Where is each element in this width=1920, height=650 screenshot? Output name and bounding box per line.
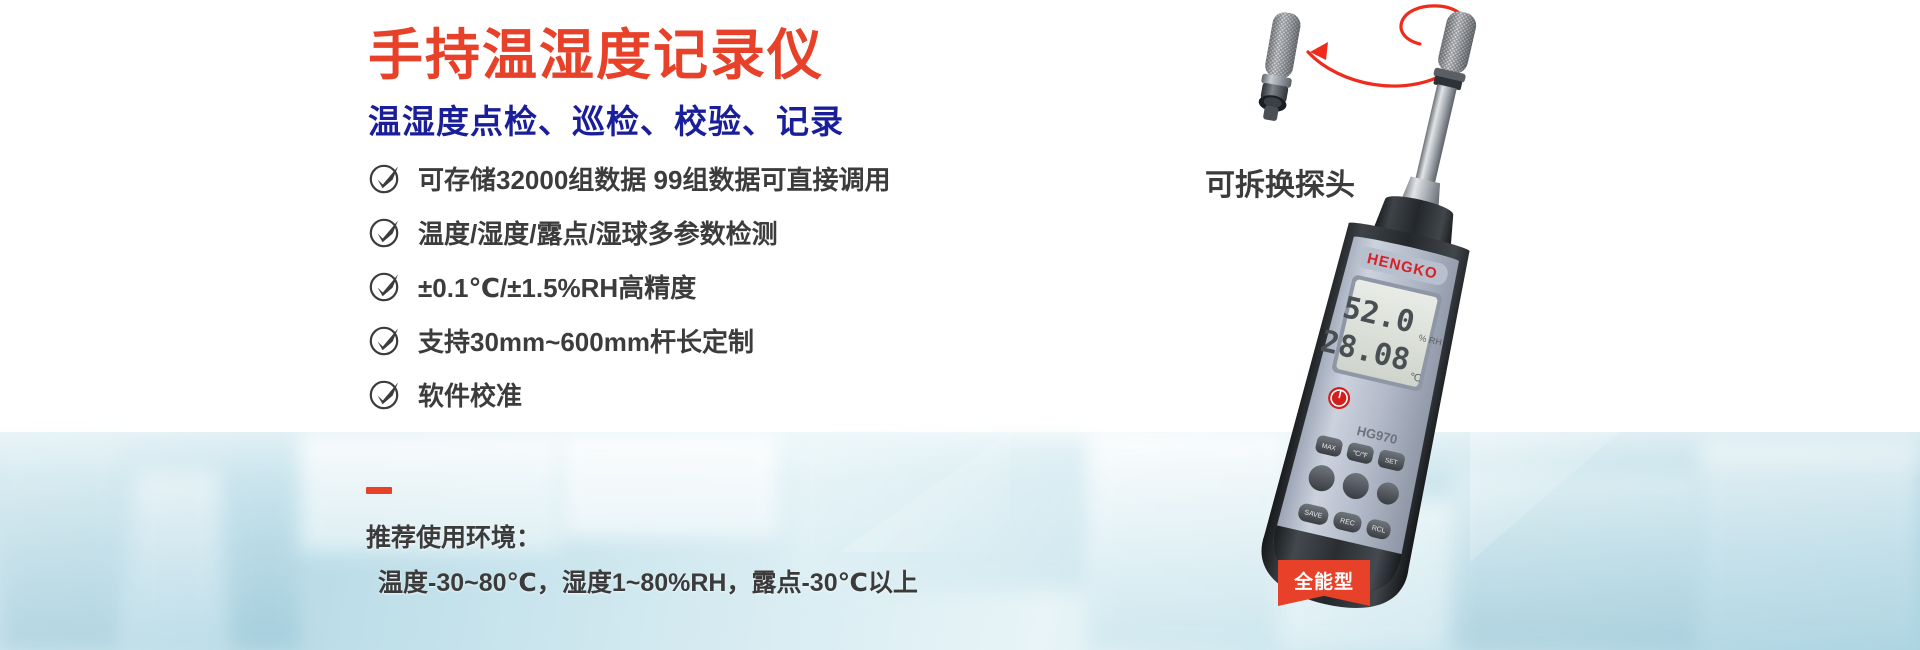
list-item-label: 软件校准: [418, 376, 522, 413]
list-item-label: ±0.1℃/±1.5%RH高精度: [418, 268, 696, 305]
check-circle-icon: [368, 215, 402, 249]
list-item-label: 温度/湿度/露点/湿球多参数检测: [418, 214, 778, 251]
list-item: 可存储32000组数据 99组数据可直接调用: [368, 158, 890, 198]
check-circle-icon: [368, 377, 402, 411]
list-item: ±0.1℃/±1.5%RH高精度: [368, 266, 890, 306]
list-item: 软件校准: [368, 374, 890, 414]
note-dash-divider: [366, 487, 392, 494]
background-blur-shape: [1700, 440, 1920, 650]
page-title: 手持温湿度记录仪: [368, 10, 824, 90]
background-blur-shape: [132, 470, 222, 650]
background-top: [0, 0, 1920, 432]
recommended-environment-heading: 推荐使用环境：: [366, 518, 541, 554]
list-item: 支持30mm~600mm杆长定制: [368, 320, 890, 360]
list-item-label: 可存储32000组数据 99组数据可直接调用: [418, 160, 890, 197]
product-device-graphic: HENGKO 52.0 % RH 28.08 ℃ HG970 MAX: [1170, 0, 1630, 650]
status-badge-label: 全能型: [1294, 567, 1354, 594]
list-item-label: 支持30mm~600mm杆长定制: [418, 322, 754, 359]
check-circle-icon: [368, 323, 402, 357]
background-blur-shape: [230, 445, 300, 650]
page-subtitle: 温湿度点检、巡检、校验、记录: [368, 95, 844, 143]
product-banner: 手持温湿度记录仪 温湿度点检、巡检、校验、记录 可存储32000组数据 99组数…: [0, 0, 1920, 650]
background-blur-shape: [0, 438, 120, 650]
recommended-environment-detail: 温度-30~80℃，湿度1~80%RH，露点-30℃以上: [378, 563, 918, 599]
feature-list: 可存储32000组数据 99组数据可直接调用 温度/湿度/露点/湿球多参数检测 …: [368, 158, 890, 414]
background-blur-shape: [560, 432, 780, 537]
check-circle-icon: [368, 161, 402, 195]
check-circle-icon: [368, 269, 402, 303]
list-item: 温度/湿度/露点/湿球多参数检测: [368, 212, 890, 252]
